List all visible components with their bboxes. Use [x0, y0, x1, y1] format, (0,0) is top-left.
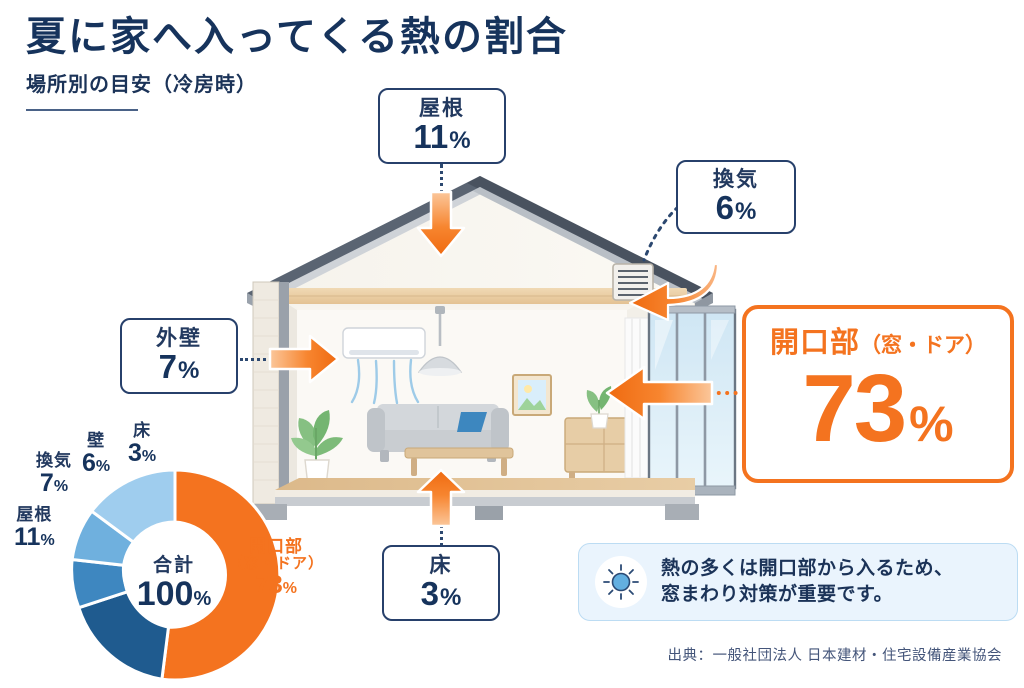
donut-label-wall: 壁 6% [82, 432, 110, 476]
callout-roof[interactable]: 屋根 11% [378, 88, 506, 164]
title-divider [26, 109, 138, 111]
callout-openings-pct: % [909, 401, 953, 449]
arrow-wall [268, 330, 340, 388]
donut-label-floor-value: 3% [128, 440, 156, 466]
callout-floor-number: 3 [421, 575, 439, 612]
callout-exterior-wall-number: 7 [159, 348, 177, 385]
donut-label-openings-name: 開口部 [228, 538, 324, 556]
infographic-canvas: 夏に家へ入ってくる熱の割合 場所別の目安（冷房時） [0, 0, 1024, 683]
donut-label-openings: 開口部 （窓・ドア） 73% [228, 538, 324, 598]
donut-chart: 合計 100% 床 3% 壁 6% 換気 7% 屋根 11% 開口部 （窓・ドア… [10, 420, 340, 655]
arrow-vent [624, 258, 720, 322]
note-line-2: 窓まわり対策が重要です。 [661, 582, 954, 608]
donut-label-roof-name: 屋根 [14, 506, 55, 524]
donut-center-value: 100% [137, 577, 212, 613]
callout-roof-label: 屋根 [419, 97, 465, 120]
callout-floor-pct: % [440, 584, 461, 611]
callout-exterior-wall-value: 7% [159, 350, 200, 385]
note-line-1: 熱の多くは開口部から入るため、 [661, 556, 954, 582]
donut-label-ventilation-value: 7% [36, 470, 72, 496]
callout-exterior-wall-pct: % [178, 357, 199, 384]
wall-picture [513, 375, 551, 415]
callout-ventilation[interactable]: 換気 6% [676, 160, 796, 234]
callout-ventilation-value: 6% [716, 191, 757, 226]
note-text: 熱の多くは開口部から入るため、 窓まわり対策が重要です。 [661, 556, 954, 607]
arrow-roof [412, 190, 470, 258]
donut-label-roof-value: 11% [14, 524, 55, 550]
donut-label-ventilation: 換気 7% [36, 452, 72, 496]
donut-center-number: 100 [137, 575, 194, 613]
callout-floor[interactable]: 床 3% [382, 545, 500, 621]
callout-ventilation-label: 換気 [713, 168, 759, 191]
callout-floor-value: 3% [421, 577, 462, 612]
donut-center-label: 合計 [153, 550, 195, 577]
donut-label-roof: 屋根 11% [14, 506, 55, 550]
callout-exterior-wall[interactable]: 外壁 7% [120, 318, 238, 394]
arrow-openings [604, 362, 714, 424]
donut-label-floor-name: 床 [128, 422, 156, 440]
donut-label-openings-sub: （窓・ドア） [228, 556, 324, 572]
donut-label-ventilation-name: 換気 [36, 452, 72, 470]
callout-openings-number: 73 [802, 363, 905, 454]
callout-openings-value: 73% [746, 363, 1010, 454]
note-box: 熱の多くは開口部から入るため、 窓まわり対策が重要です。 [578, 543, 1018, 621]
donut-center-pct: % [193, 588, 211, 610]
source-citation: 出典：一般社団法人 日本建材・住宅設備産業協会 [667, 644, 1002, 665]
callout-openings[interactable]: 開口部（窓・ドア） 73% [742, 305, 1014, 483]
callout-roof-value: 11% [413, 120, 470, 155]
arrow-floor [412, 468, 470, 528]
sun-icon [595, 556, 647, 608]
callout-roof-number: 11 [413, 118, 448, 155]
donut-label-wall-name: 壁 [82, 432, 110, 450]
donut-label-openings-value: 73% [228, 572, 324, 598]
callout-exterior-wall-label: 外壁 [156, 327, 202, 350]
donut-label-floor: 床 3% [128, 422, 156, 466]
callout-roof-pct: % [449, 127, 470, 154]
callout-ventilation-number: 6 [716, 189, 734, 226]
callout-floor-label: 床 [430, 554, 453, 577]
page-title: 夏に家へ入ってくる熱の割合 [26, 14, 568, 60]
donut-label-wall-value: 6% [82, 450, 110, 476]
donut-center-total: 合計 100% [118, 532, 230, 630]
callout-ventilation-pct: % [735, 198, 756, 225]
